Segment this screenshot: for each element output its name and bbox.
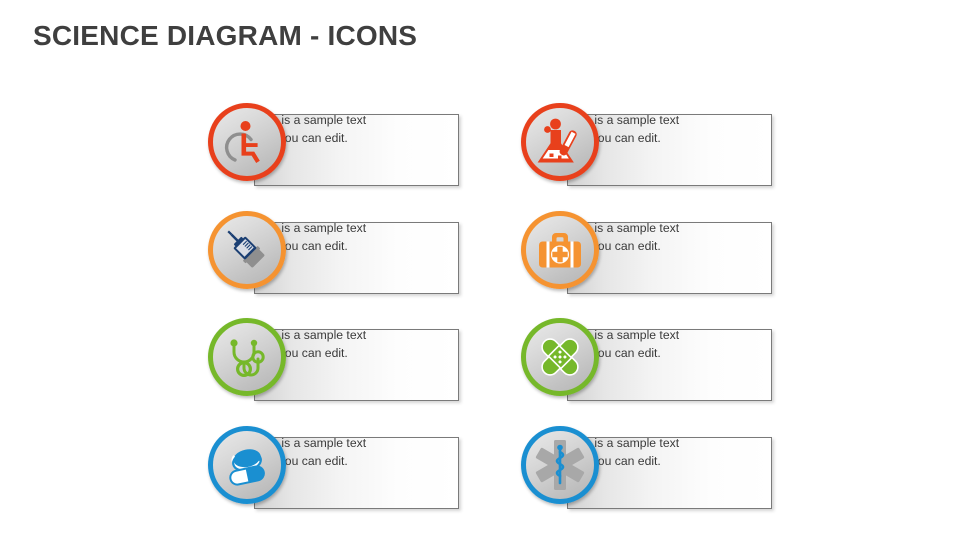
list-item[interactable]: This is a sample text that you can edit. — [208, 426, 460, 521]
icon-circle[interactable] — [208, 211, 286, 289]
slide-canvas: SCIENCE DIAGRAM - ICONS This is a sample… — [0, 0, 960, 540]
icon-circle[interactable] — [208, 426, 286, 504]
icon-circle[interactable] — [521, 211, 599, 289]
pills-capsule-icon — [222, 440, 272, 490]
list-item[interactable]: This is a sample text that you can edit. — [521, 211, 773, 306]
page-title: SCIENCE DIAGRAM - ICONS — [33, 20, 417, 52]
icon-circle[interactable] — [521, 103, 599, 181]
list-item[interactable]: This is a sample text that you can edit. — [521, 426, 773, 521]
first-aid-kit-icon — [535, 225, 585, 275]
list-item[interactable]: This is a sample text that you can edit. — [208, 211, 460, 306]
lab-flask-icon — [534, 116, 586, 168]
star-of-life-icon — [533, 438, 587, 492]
wheelchair-accessibility-icon — [221, 116, 273, 168]
list-item[interactable]: This is a sample text that you can edit. — [208, 103, 460, 198]
icon-circle[interactable] — [208, 103, 286, 181]
list-item[interactable]: This is a sample text that you can edit. — [521, 103, 773, 198]
stethoscope-icon — [223, 333, 271, 381]
bandage-cross-icon — [535, 332, 585, 382]
icon-circle[interactable] — [521, 318, 599, 396]
syringe-icon — [220, 223, 274, 277]
icon-circle[interactable] — [521, 426, 599, 504]
list-item[interactable]: This is a sample text that you can edit. — [208, 318, 460, 413]
list-item[interactable]: This is a sample text that you can edit. — [521, 318, 773, 413]
icon-circle[interactable] — [208, 318, 286, 396]
